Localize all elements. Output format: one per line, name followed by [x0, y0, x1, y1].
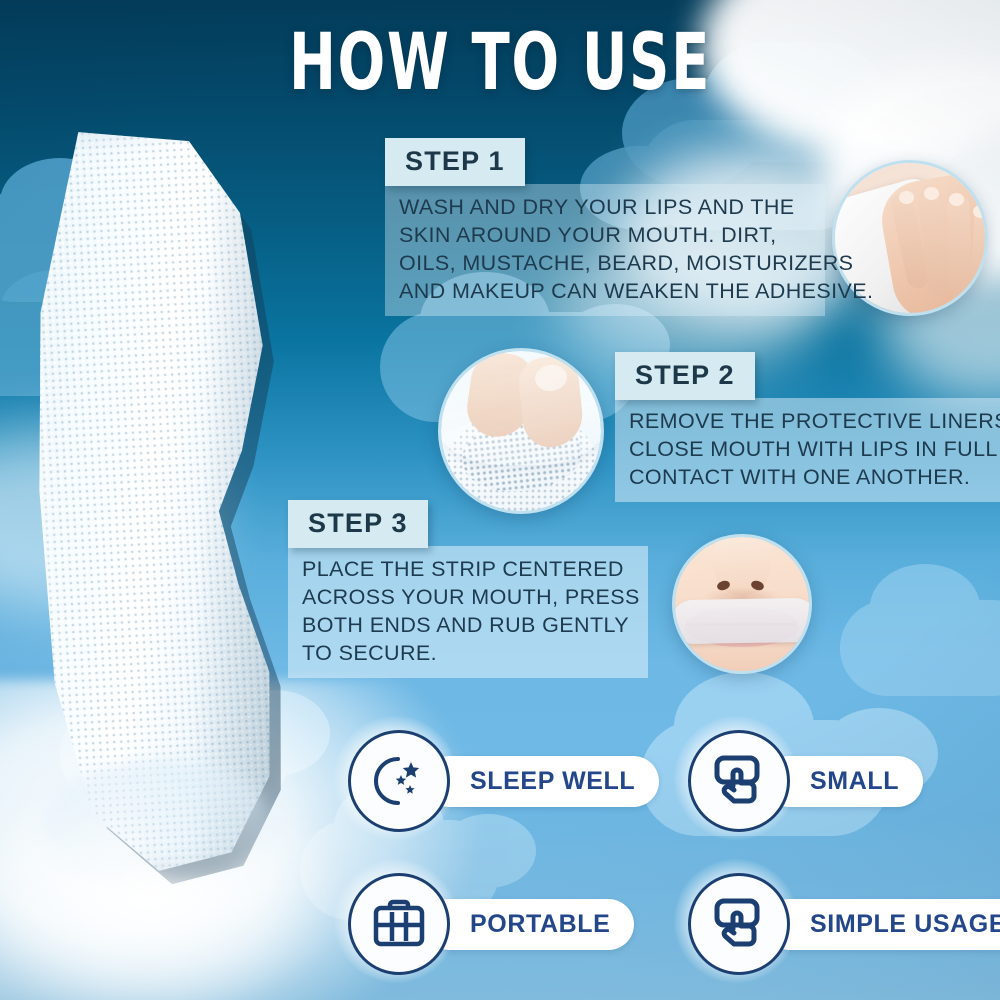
- feature-simple-usage: SIMPLE USAGE: [688, 873, 1000, 975]
- feature-sleep-well: SLEEP WELL: [348, 730, 659, 832]
- feature-icon-circle: [348, 730, 450, 832]
- step-1-line-4: AND MAKEUP CAN WEAKEN THE ADHESIVE.: [399, 278, 811, 306]
- feature-label-portable: PORTABLE: [424, 899, 634, 950]
- feature-label-simple-usage: SIMPLE USAGE: [764, 899, 1000, 950]
- step-1-badge: STEP 1: [385, 138, 525, 186]
- feature-label-sleep-well: SLEEP WELL: [424, 756, 659, 807]
- photo-peeling-liner: [441, 351, 601, 511]
- feature-portable: PORTABLE: [348, 873, 634, 975]
- step-2-text: REMOVE THE PROTECTIVE LINERS. CLOSE MOUT…: [615, 398, 1000, 502]
- step-1-line-3: OILS, MUSTACHE, BEARD, MOISTURIZERS: [399, 250, 811, 278]
- step-3-line-1: PLACE THE STRIP CENTERED: [302, 556, 634, 584]
- feature-small: SMALL: [688, 730, 923, 832]
- page-title: HOW TO USE: [100, 18, 900, 108]
- step-2-block: STEP 2 REMOVE THE PROTECTIVE LINERS. CLO…: [615, 352, 1000, 502]
- step-3-text: PLACE THE STRIP CENTERED ACROSS YOUR MOU…: [288, 546, 648, 678]
- briefcase-icon: [369, 894, 429, 954]
- step-3-badge: STEP 3: [288, 500, 428, 548]
- step-3-block: STEP 3 PLACE THE STRIP CENTERED ACROSS Y…: [288, 500, 648, 678]
- infographic-canvas: HOW TO USE: [0, 0, 1000, 1000]
- step-2-line-2: CLOSE MOUTH WITH LIPS IN FULL: [629, 436, 991, 464]
- moon-stars-icon: [368, 750, 430, 812]
- feature-icon-circle: [688, 873, 790, 975]
- step-3-line-4: TO SECURE.: [302, 640, 634, 668]
- photo-mouth-with-strip: [675, 537, 809, 671]
- feature-icon-circle: [688, 730, 790, 832]
- step-3-line-2: ACROSS YOUR MOUTH, PRESS: [302, 584, 634, 612]
- step-1-block: STEP 1 WASH AND DRY YOUR LIPS AND THE SK…: [385, 138, 825, 316]
- step-3-line-3: BOTH ENDS AND RUB GENTLY: [302, 612, 634, 640]
- step-2-line-1: REMOVE THE PROTECTIVE LINERS.: [629, 408, 991, 436]
- tap-hand-strip-icon: [709, 894, 769, 954]
- step-3-photo: [672, 534, 812, 674]
- tap-hand-strip-icon: [709, 751, 769, 811]
- step-1-line-2: SKIN AROUND YOUR MOUTH. DIRT,: [399, 222, 811, 250]
- feature-icon-circle: [348, 873, 450, 975]
- step-1-line-1: WASH AND DRY YOUR LIPS AND THE: [399, 194, 811, 222]
- step-2-line-3: CONTACT WITH ONE ANOTHER.: [629, 464, 991, 492]
- step-2-badge: STEP 2: [615, 352, 755, 400]
- step-1-text: WASH AND DRY YOUR LIPS AND THE SKIN AROU…: [385, 184, 825, 316]
- step-2-photo: [438, 348, 604, 514]
